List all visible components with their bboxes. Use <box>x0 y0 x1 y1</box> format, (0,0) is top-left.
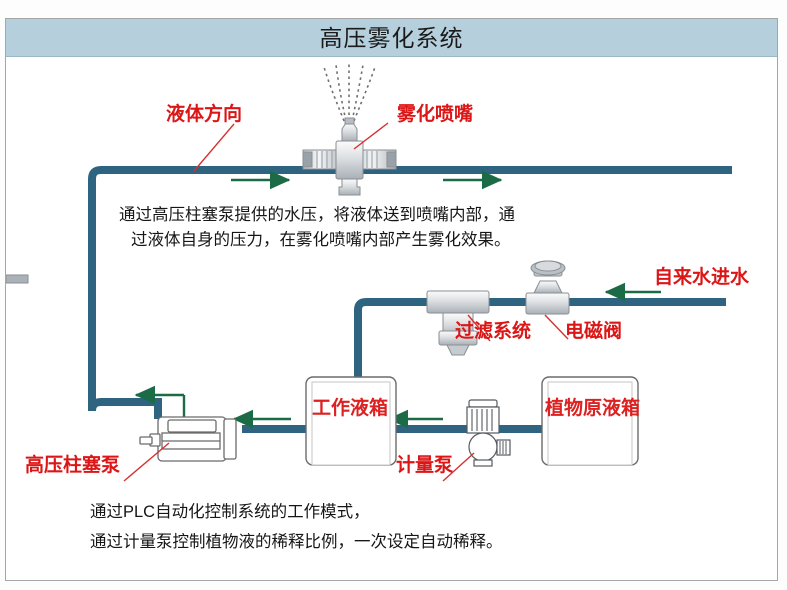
spray-nozzle-icon <box>303 118 396 195</box>
leader-plunger-pump <box>124 443 169 481</box>
leader-lines <box>124 123 568 481</box>
diagram-graphics <box>6 19 778 581</box>
page-title: 高压雾化系统 <box>6 19 777 57</box>
paragraph-top-line2: 过液体自身的压力，在雾化喷嘴内部产生雾化效果。 <box>131 228 511 253</box>
metering-pump-icon <box>467 400 510 466</box>
spray-mist-icon <box>324 64 375 121</box>
label-solenoid-valve: 电磁阀 <box>565 322 622 343</box>
label-atomizing-nozzle: 雾化喷嘴 <box>397 105 473 126</box>
title-bar: 高压雾化系统 <box>6 19 777 57</box>
paragraph-bottom-line1: 通过PLC自动化控制系统的工作模式， <box>90 500 370 525</box>
diagram-panel: 高压雾化系统 <box>5 18 778 581</box>
paragraph-top-line1: 通过高压柱塞泵提供的水压，将液体送到喷嘴内部，通 <box>119 203 515 228</box>
label-tap-water-inlet: 自来水进水 <box>654 268 749 289</box>
label-liquid-direction: 液体方向 <box>166 105 242 126</box>
paragraph-bottom-line2: 通过计量泵控制植物液的稀释比例，一次设定自动稀释。 <box>90 530 503 555</box>
plant-stock-tank <box>542 377 638 465</box>
diagram-root: 高压雾化系统 <box>0 0 787 590</box>
label-working-tank: 工作液箱 <box>312 393 388 420</box>
leader-nozzle <box>354 123 388 149</box>
label-plant-stock-tank: 植物原液箱 <box>545 393 640 420</box>
pipe-pump-discharge <box>92 402 158 419</box>
label-filter-system: 过滤系统 <box>455 322 531 343</box>
label-high-pressure-plunger-pump: 高压柱塞泵 <box>25 456 120 477</box>
plunger-pump-icon <box>140 417 236 461</box>
working-tank <box>306 377 396 465</box>
pipe-mid-supply <box>358 302 726 376</box>
leader-liquid-direction <box>194 124 234 171</box>
solenoid-valve-icon <box>6 261 569 314</box>
label-metering-pump: 计量泵 <box>396 456 453 477</box>
